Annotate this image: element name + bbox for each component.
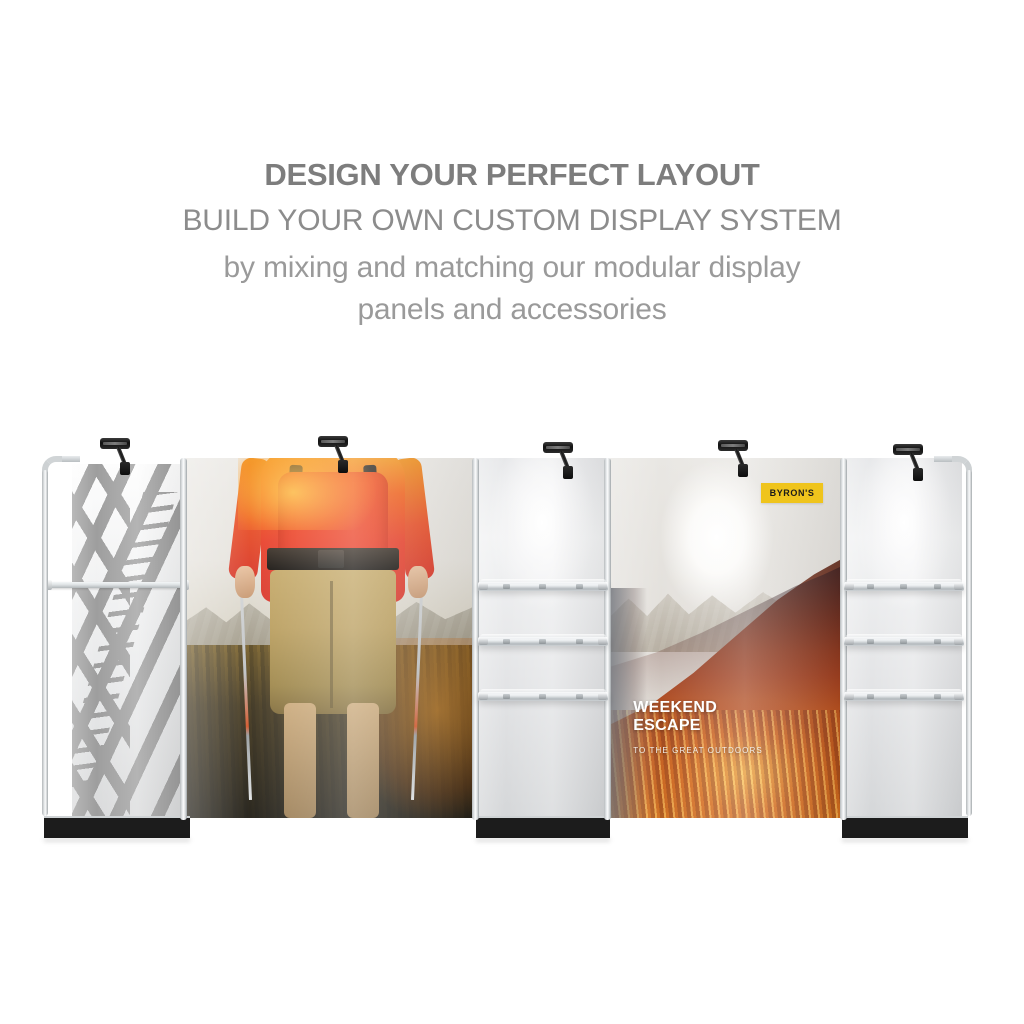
light-head-icon — [318, 436, 348, 447]
hiker-hand-right — [408, 566, 428, 598]
hiker-leg-left — [284, 703, 316, 818]
modular-display-system: BYRON'S WEEKEND ESCAPE TO THE GREAT OUTD… — [0, 430, 1024, 830]
hiker-photo-graphic — [186, 458, 474, 818]
hiker-leg-right — [347, 703, 379, 818]
heading-block: DESIGN YOUR PERFECT LAYOUT BUILD YOUR OW… — [0, 155, 1024, 330]
frame-end-post-right — [932, 456, 972, 816]
shelf-left-1[interactable] — [478, 582, 608, 591]
escape-subheadline: TO THE GREAT OUTDOORS — [633, 746, 763, 755]
byrons-logo-badge: BYRON'S — [761, 483, 824, 503]
escape-headline-line-2: ESCAPE — [633, 717, 717, 735]
light-head-icon — [100, 438, 130, 449]
panel-base-right — [842, 816, 968, 838]
panel-base-center — [476, 816, 610, 838]
light-clamp — [913, 468, 923, 481]
light-head-icon — [893, 444, 923, 455]
page-root: DESIGN YOUR PERFECT LAYOUT BUILD YOUR OW… — [0, 0, 1024, 1024]
frame-pole-1 — [180, 458, 187, 820]
light-head-icon — [718, 440, 748, 451]
light-clamp — [563, 466, 573, 479]
light-head-icon — [543, 442, 573, 453]
panel-escape[interactable]: BYRON'S WEEKEND ESCAPE TO THE GREAT OUTD… — [610, 458, 842, 818]
panel-base-left — [44, 816, 190, 838]
light-clamp — [120, 462, 130, 475]
hiker-shorts — [270, 570, 397, 714]
page-description-line-2: panels and accessories — [0, 289, 1024, 330]
hiker-hand-left — [235, 566, 255, 598]
escape-headline-line-1: WEEKEND — [633, 699, 717, 717]
shelf-left-2[interactable] — [478, 637, 608, 646]
shelf-left-3[interactable] — [478, 692, 608, 701]
light-clamp — [338, 460, 348, 473]
page-subtitle: BUILD YOUR OWN CUSTOM DISPLAY SYSTEM — [0, 201, 1024, 242]
escape-headline: WEEKEND ESCAPE — [633, 699, 717, 735]
belt-buckle — [318, 550, 344, 568]
light-clamp — [738, 464, 748, 477]
frame-end-post-left — [42, 456, 82, 816]
page-title: DESIGN YOUR PERFECT LAYOUT — [0, 155, 1024, 195]
panel-stripes[interactable] — [72, 464, 184, 816]
panel-hiker[interactable] — [186, 458, 474, 818]
weekend-escape-graphic — [610, 458, 842, 818]
page-description-line-1: by mixing and matching our modular displ… — [0, 247, 1024, 288]
